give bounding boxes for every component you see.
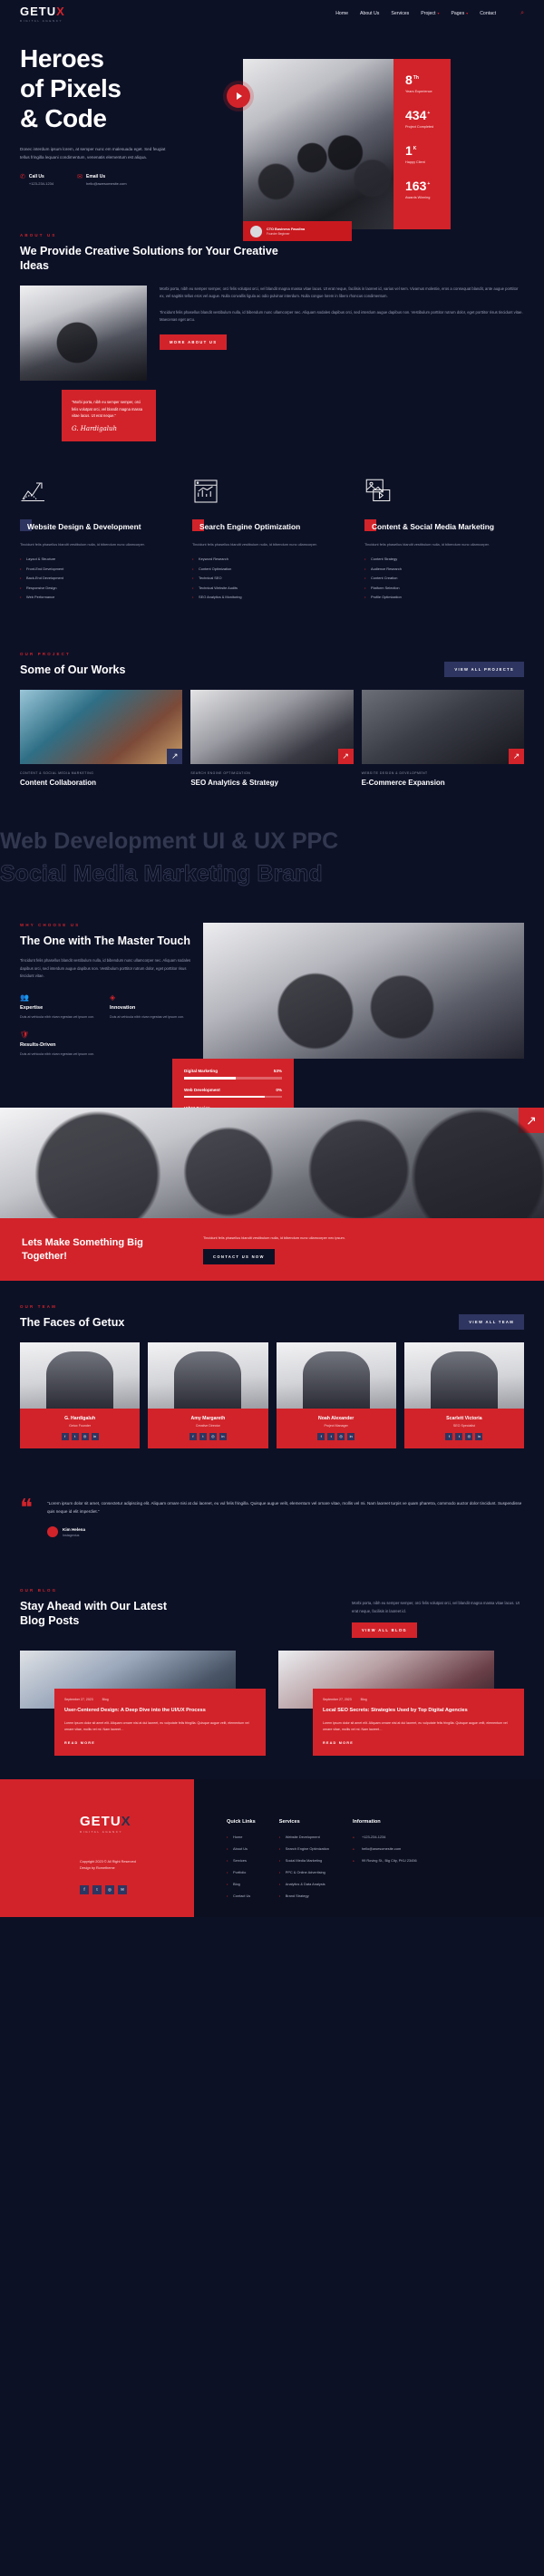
project-name: Content Collaboration xyxy=(20,779,182,787)
social-icon[interactable]: f xyxy=(317,1433,325,1440)
blog-card[interactable]: September 27, 2023Blog Local SEO Secrets… xyxy=(278,1651,524,1756)
footer-copyright: Copyright 2023 © All Right Reserved xyxy=(80,1859,194,1866)
phone-icon: ✆ xyxy=(20,174,25,180)
hero-title: Heroes of Pixels & Code xyxy=(20,44,247,133)
analytics-window-icon xyxy=(192,478,219,505)
media-gallery-icon xyxy=(364,478,392,505)
footer-link[interactable]: Contact Us xyxy=(227,1893,256,1898)
project-name: E-Commerce Expansion xyxy=(362,779,524,787)
view-all-team-button[interactable]: VIEW ALL TEAM xyxy=(459,1314,524,1330)
social-icon[interactable]: ◎ xyxy=(209,1433,217,1440)
social-icon[interactable]: t xyxy=(455,1433,462,1440)
play-button-icon[interactable] xyxy=(227,84,250,108)
blog-card[interactable]: September 27, 2023Blog User-Centered Des… xyxy=(20,1651,266,1756)
team-member-card: Scarlett Victoria SEO Specialist ft◎in xyxy=(404,1342,524,1448)
project-category: WEBSITE DESIGN & DEVELOPMENT xyxy=(362,771,524,775)
social-icon[interactable]: f xyxy=(62,1433,69,1440)
quote-signature: G. Hardigaluh xyxy=(72,425,146,432)
growth-chart-icon xyxy=(20,478,47,505)
feature-expertise: 👥 Expertise Duis at vehicula nibh vivan … xyxy=(20,993,97,1021)
stat-item: 8ThYears Experience xyxy=(405,73,451,93)
view-all-projects-button[interactable]: VIEW ALL PROJECTS xyxy=(444,662,524,677)
footer-quick-links: Quick Links HomeAbout UsServicesPortfoli… xyxy=(227,1819,256,1917)
progress-bar xyxy=(184,1096,282,1099)
hero-media: 8ThYears Experience 434+Project Complete… xyxy=(247,34,510,186)
projects-title: Some of Our Works xyxy=(20,663,125,677)
member-socials: ft◎in xyxy=(153,1433,262,1440)
read-more-link[interactable]: READ MORE xyxy=(323,1741,514,1745)
skill-row: Web Development0% xyxy=(184,1088,282,1099)
hero-section: Heroes of Pixels & Code Donec interdum i… xyxy=(0,27,544,209)
nav-item-home[interactable]: Home xyxy=(335,11,348,16)
chevron-down-icon: ▾ xyxy=(437,11,439,15)
stat-item: 1KHappy Client xyxy=(405,144,451,164)
social-icon[interactable]: ◎ xyxy=(105,1885,114,1894)
social-icon[interactable]: ◎ xyxy=(337,1433,345,1440)
social-icon[interactable]: in xyxy=(475,1433,482,1440)
team-member-card: Noah Alexander Project Manager ft◎in xyxy=(277,1342,396,1448)
footer-link[interactable]: hello@awesomesite.com xyxy=(353,1846,417,1851)
why-choose-us-section: WHY CHOOSE US The One with The Master To… xyxy=(0,899,544,1108)
progress-bar xyxy=(184,1077,282,1080)
about-paragraph-2: Tincidunt felis phasellus blandit vestib… xyxy=(160,309,524,324)
contact-email[interactable]: ✉ Email Us hello@awesomesite.com xyxy=(77,174,126,186)
service-list: Layout & StructureFront-End Development … xyxy=(20,557,180,599)
footer-link[interactable]: Website Development xyxy=(279,1835,329,1839)
hero-stats: 8ThYears Experience 434+Project Complete… xyxy=(393,59,451,229)
cta-image: ↗ xyxy=(0,1108,544,1218)
footer-design: Design by Rometheme xyxy=(80,1865,194,1873)
social-icon[interactable]: ✉ xyxy=(118,1885,127,1894)
social-icon[interactable]: t xyxy=(92,1885,102,1894)
service-list: Content StrategyAudience Research Conten… xyxy=(364,557,524,599)
about-image xyxy=(20,286,147,381)
service-card-web-design[interactable]: Website Design & Development Tincidunt f… xyxy=(20,478,180,605)
why-title: The One with The Master Touch xyxy=(20,934,192,948)
social-icon[interactable]: ◎ xyxy=(465,1433,472,1440)
member-name: G. Hardigaluh xyxy=(25,1416,134,1421)
member-role: Project Manager xyxy=(282,1424,391,1428)
footer-services: Services Website DevelopmentSearch Engin… xyxy=(279,1819,329,1917)
footer-link[interactable]: Portfolio xyxy=(227,1870,256,1874)
read-more-link[interactable]: READ MORE xyxy=(64,1741,256,1745)
feature-results: 🛡 Results-Driven Duis at vehicula nibh v… xyxy=(20,1031,97,1058)
project-category: SEARCH ENGINE OPTIMIZATION xyxy=(190,771,353,775)
project-card[interactable]: ↗ SEARCH ENGINE OPTIMIZATION SEO Analyti… xyxy=(190,690,353,787)
chevron-down-icon: ▾ xyxy=(466,11,468,15)
site-header: GETUX DIGITAL AGENCY Home About Us Servi… xyxy=(0,0,544,27)
member-socials: ft◎in xyxy=(410,1433,519,1440)
cta-section: ↗ Lets Make Something Big Together! Tinc… xyxy=(0,1108,544,1280)
blog-description: Morbi porta, nibh eu semper semper, orci… xyxy=(352,1600,524,1615)
cta-description: Tincidunt felis phasellus blandit vestib… xyxy=(203,1235,345,1241)
service-desc: Tincidunt felis phasellus blandit vestib… xyxy=(192,541,352,547)
marquee-band: Web Development UI & UX PPC Social Media… xyxy=(0,810,544,900)
hero-image xyxy=(243,59,393,229)
social-icon[interactable]: f xyxy=(445,1433,452,1440)
services-section: Website Design & Development Tincidunt f… xyxy=(0,465,544,628)
quote-mark-icon: ❝ xyxy=(20,1499,33,1537)
team-section: OUR TEAM The Faces of Getux VIEW ALL TEA… xyxy=(0,1281,544,1472)
envelope-icon: ✉ xyxy=(77,174,83,180)
feature-innovation: ◈ Innovation Duis at vehicula nibh vivan… xyxy=(110,993,187,1021)
service-title: Search Engine Optimization xyxy=(192,522,352,532)
footer-logo[interactable]: GETUX DIGITAL AGENCY xyxy=(80,1814,194,1834)
footer-link[interactable]: Social Media Marketing xyxy=(279,1858,329,1863)
skill-row: Digital Marketing53% xyxy=(184,1069,282,1080)
stat-item: 163+Awards Winning xyxy=(405,179,451,199)
project-card[interactable]: ↗ WEBSITE DESIGN & DEVELOPMENT E-Commerc… xyxy=(362,690,524,787)
arrow-up-right-icon[interactable]: ↗ xyxy=(167,749,182,764)
footer-link[interactable]: PPC & Online Advertising xyxy=(279,1870,329,1874)
member-role: Creative Director xyxy=(153,1424,262,1428)
people-icon: 👥 xyxy=(20,993,97,1002)
contact-us-now-button[interactable]: CONTACT US NOW xyxy=(203,1249,275,1264)
quote-text: "Morbi porta, nibh eu semper semper, orc… xyxy=(72,399,146,420)
blog-post-title: User-Centered Design: A Deep Dive into t… xyxy=(64,1707,256,1714)
search-icon[interactable]: ⌕ xyxy=(520,10,524,17)
social-icon[interactable]: f xyxy=(189,1433,197,1440)
member-socials: ft◎in xyxy=(282,1433,391,1440)
page-root: GETUX DIGITAL AGENCY Home About Us Servi… xyxy=(0,0,544,1917)
logo-text: GETU xyxy=(20,5,56,18)
member-name: Scarlett Victoria xyxy=(410,1416,519,1421)
service-list: Keyword ResearchContent Optimization Tec… xyxy=(192,557,352,599)
blog-section: OUR BLOG Stay Ahead with Our Latest Blog… xyxy=(0,1564,544,1779)
service-desc: Tincidunt felis phasellus blandit vestib… xyxy=(20,541,180,547)
footer-link[interactable]: Home xyxy=(227,1835,256,1839)
why-eyebrow: WHY CHOOSE US xyxy=(20,923,192,927)
stat-item: 434+Project Completed xyxy=(405,109,451,129)
footer-link[interactable]: Analytics & Data Analysis xyxy=(279,1882,329,1886)
why-image xyxy=(203,923,524,1059)
nav-item-project[interactable]: Project▾ xyxy=(421,11,439,16)
social-icon[interactable]: ◎ xyxy=(82,1433,89,1440)
hero-content: Heroes of Pixels & Code Donec interdum i… xyxy=(20,34,247,186)
blog-post-excerpt: Lorem ipsum dolor sit amet elit. Aliquam… xyxy=(64,1720,256,1733)
social-icon[interactable]: in xyxy=(347,1433,355,1440)
diamond-icon: ◈ xyxy=(110,993,187,1002)
footer-link[interactable]: +123-234-1234 xyxy=(353,1835,417,1839)
footer-link[interactable]: Search Engine Optimization xyxy=(279,1846,329,1851)
member-name: Amy Margareth xyxy=(153,1416,262,1421)
footer-socials: ft◎✉ xyxy=(80,1885,194,1894)
member-photo xyxy=(404,1342,524,1409)
arrow-up-right-icon[interactable]: ↗ xyxy=(519,1108,544,1133)
service-desc: Tincidunt felis phasellus blandit vestib… xyxy=(364,541,524,547)
footer-link[interactable]: Services xyxy=(227,1858,256,1863)
nav-item-pages[interactable]: Pages▾ xyxy=(451,11,468,16)
testimonial-role: Instagenius xyxy=(63,1534,85,1537)
about-paragraph-1: Morbi porta, nibh eu semper semper, orci… xyxy=(160,286,524,301)
hero-contacts: ✆ Call Us +123-234-1234 ✉ Email Us hello… xyxy=(20,174,247,186)
logo[interactable]: GETUX DIGITAL AGENCY xyxy=(20,5,65,23)
testimonial-text: "Lorem ipsum dolor sit amet, consectetur… xyxy=(47,1499,524,1516)
hero-description: Donec interdum ipsum lorem, at semper nu… xyxy=(20,146,174,161)
service-title: Website Design & Development xyxy=(20,522,180,532)
contact-call[interactable]: ✆ Call Us +123-234-1234 xyxy=(20,174,53,186)
about-title: We Provide Creative Solutions for Your C… xyxy=(20,244,292,273)
arrow-up-right-icon[interactable]: ↗ xyxy=(338,749,354,764)
view-all-blog-button[interactable]: VIEW ALL BLOG xyxy=(352,1622,417,1638)
social-icon[interactable]: f xyxy=(80,1885,89,1894)
nav-item-services[interactable]: Services xyxy=(391,11,409,16)
shield-icon: 🛡 xyxy=(20,1031,97,1039)
member-photo xyxy=(20,1342,140,1409)
marquee-line-1: Web Development UI & UX PPC xyxy=(0,825,544,857)
avatar xyxy=(47,1526,58,1537)
footer-link[interactable]: Brand Strategy xyxy=(279,1893,329,1898)
about-section: ABOUT US We Provide Creative Solutions f… xyxy=(0,209,544,465)
member-socials: ft◎in xyxy=(25,1433,134,1440)
main-nav: Home About Us Services Project▾ Pages▾ C… xyxy=(335,10,524,17)
logo-accent: X xyxy=(56,5,65,18)
team-member-card: G. Hardigaluh Getux Founder ft◎in xyxy=(20,1342,140,1448)
arrow-up-right-icon[interactable]: ↗ xyxy=(509,749,524,764)
team-member-card: Amy Margareth Creative Director ft◎in xyxy=(148,1342,267,1448)
footer-information: Information +123-234-1234hello@awesomesi… xyxy=(353,1819,417,1917)
social-icon[interactable]: in xyxy=(92,1433,99,1440)
project-category: CONTENT & SOCIAL MEDIA MARKETING xyxy=(20,771,182,775)
member-name: Noah Alexander xyxy=(282,1416,391,1421)
member-role: SEO Specialist xyxy=(410,1424,519,1428)
footer-link[interactable]: About Us xyxy=(227,1846,256,1851)
site-footer: GETUX DIGITAL AGENCY Copyright 2023 © Al… xyxy=(0,1779,544,1917)
member-photo xyxy=(148,1342,267,1409)
service-title: Content & Social Media Marketing xyxy=(364,522,524,532)
footer-link[interactable]: Blog xyxy=(227,1882,256,1886)
service-card-seo[interactable]: Search Engine Optimization Tincidunt fel… xyxy=(192,478,352,605)
blog-post-excerpt: Lorem ipsum dolor sit amet elit. Aliquam… xyxy=(323,1720,514,1733)
marquee-line-2: Social Media Marketing Brand xyxy=(0,857,544,890)
project-name: SEO Analytics & Strategy xyxy=(190,779,353,787)
team-title: The Faces of Getux xyxy=(20,1315,124,1330)
project-card[interactable]: ↗ CONTENT & SOCIAL MEDIA MARKETING Conte… xyxy=(20,690,182,787)
more-about-us-button[interactable]: MORE ABOUT US xyxy=(160,334,227,350)
member-photo xyxy=(277,1342,396,1409)
about-eyebrow: ABOUT US xyxy=(20,233,524,237)
about-quote-card: "Morbi porta, nibh eu semper semper, orc… xyxy=(62,390,156,441)
projects-section: OUR PROJECT Some of Our Works VIEW ALL P… xyxy=(0,628,544,810)
testimonial-section: ❝ "Lorem ipsum dolor sit amet, consectet… xyxy=(0,1472,544,1564)
social-icon[interactable]: t xyxy=(72,1433,79,1440)
logo-tagline: DIGITAL AGENCY xyxy=(20,19,65,23)
nav-item-about[interactable]: About Us xyxy=(360,11,379,16)
service-card-content[interactable]: Content & Social Media Marketing Tincidu… xyxy=(364,478,524,605)
testimonial-author: Kim Helena xyxy=(63,1527,85,1532)
social-icon[interactable]: in xyxy=(219,1433,227,1440)
why-description: Tincidunt felis phasellus blandit vestib… xyxy=(20,957,192,980)
member-role: Getux Founder xyxy=(25,1424,134,1428)
blog-title: Stay Ahead with Our Latest Blog Posts xyxy=(20,1599,192,1628)
nav-item-contact[interactable]: Contact xyxy=(480,11,496,16)
social-icon[interactable]: t xyxy=(199,1433,207,1440)
blog-post-title: Local SEO Secrets: Strategies Used by To… xyxy=(323,1707,514,1714)
footer-link[interactable]: 99 Roving St., Big City, PKU 23456 xyxy=(353,1858,417,1863)
social-icon[interactable]: t xyxy=(327,1433,335,1440)
cta-title: Lets Make Something Big Together! xyxy=(22,1236,185,1263)
